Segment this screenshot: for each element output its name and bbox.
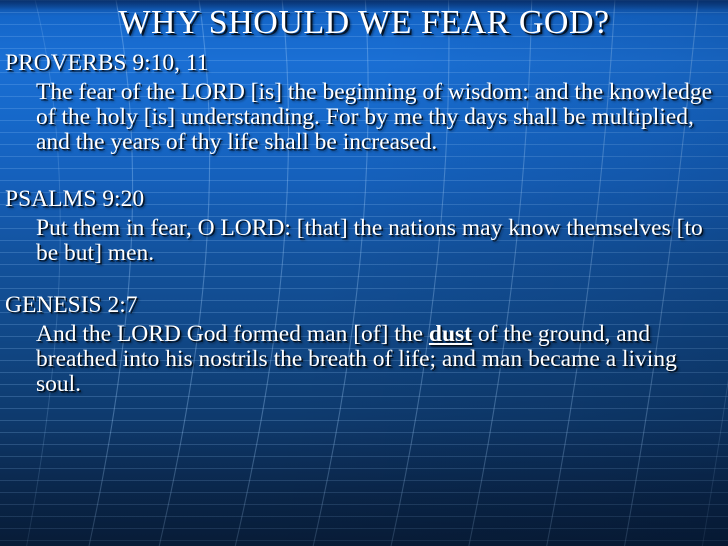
scripture-passage-proverbs: The fear of the LORD [is] the beginning … [5, 80, 726, 156]
passage-text: Put them in fear, O LORD: [that] the nat… [36, 215, 703, 266]
passage-text-before-keyword: And the LORD God formed man [of] the [36, 321, 429, 347]
scripture-list: PROVERBS 9:10, 11 The fear of the LORD [… [5, 50, 723, 398]
scripture-reference-proverbs: PROVERBS 9:10, 11 [5, 50, 723, 77]
slide-content: WHY SHOULD WE FEAR GOD? PROVERBS 9:10, 1… [0, 0, 728, 546]
passage-text: The fear of the LORD [is] the beginning … [36, 79, 712, 155]
scripture-reference-psalms: PSALMS 9:20 [5, 186, 723, 213]
scripture-reference-genesis: GENESIS 2:7 [5, 292, 723, 319]
scripture-section-proverbs: PROVERBS 9:10, 11 The fear of the LORD [… [5, 50, 723, 156]
section-spacer-1 [5, 156, 723, 186]
scripture-passage-genesis: And the LORD God formed man [of] the dus… [5, 322, 726, 398]
presentation-slide: WHY SHOULD WE FEAR GOD? PROVERBS 9:10, 1… [0, 0, 728, 546]
scripture-section-genesis: GENESIS 2:7 And the LORD God formed man … [5, 292, 723, 398]
section-spacer-2 [5, 266, 723, 292]
scripture-section-psalms: PSALMS 9:20 Put them in fear, O LORD: [t… [5, 186, 723, 266]
emphasized-keyword-dust: dust [429, 321, 472, 347]
scripture-passage-psalms: Put them in fear, O LORD: [that] the nat… [5, 216, 726, 266]
slide-title: WHY SHOULD WE FEAR GOD? [0, 2, 728, 44]
